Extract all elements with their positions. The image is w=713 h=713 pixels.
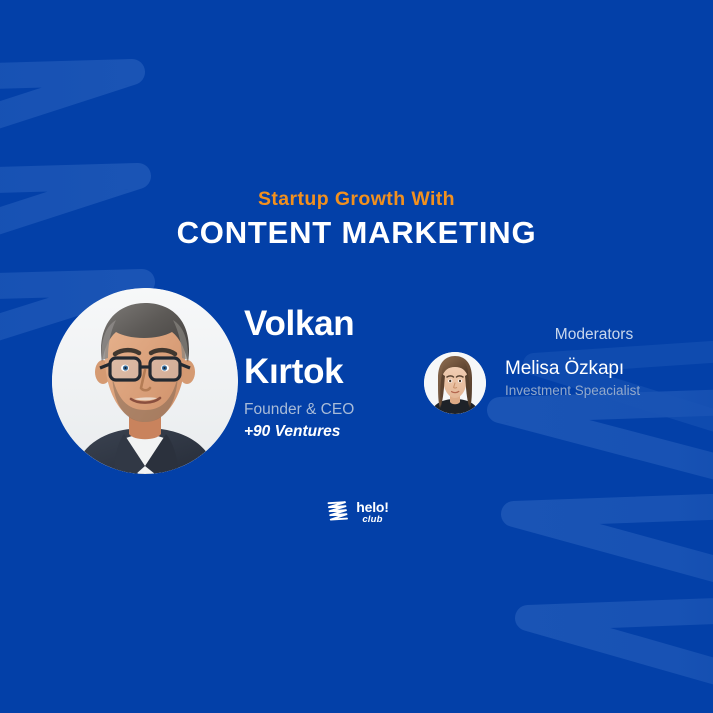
logo-text-primary: helo! (356, 500, 388, 514)
brand-logo: helo! club (0, 500, 713, 525)
helo-club-zigzag-icon (324, 500, 350, 524)
logo-text-secondary: club (356, 515, 388, 525)
page-title: CONTENT MARKETING (0, 216, 713, 251)
avatar-moderator (424, 352, 486, 414)
moderators-heading: Moderators (476, 326, 712, 344)
moderators-section: Moderators (424, 326, 684, 414)
moderator-role: Investment Speacialist (505, 383, 640, 400)
event-poster: Startup Growth With CONTENT MARKETING (0, 0, 713, 713)
avatar-speaker (52, 288, 238, 474)
moderator-name: Melisa Özkapı (505, 358, 640, 381)
moderator-portrait-illustration (424, 352, 486, 414)
speaker-company: +90 Ventures (244, 422, 474, 441)
speaker-portrait-illustration (52, 288, 238, 474)
kicker-text: Startup Growth With (0, 188, 713, 210)
logo-wordmark: helo! club (356, 500, 388, 525)
moderator-item: Melisa Özkapı Investment Speacialist (424, 352, 684, 414)
moderator-details: Melisa Özkapı Investment Speacialist (505, 358, 640, 400)
title-group: Startup Growth With CONTENT MARKETING (0, 188, 713, 251)
speaker-card: Volkan Kırtok Founder & CEO +90 Ventures (52, 288, 472, 488)
